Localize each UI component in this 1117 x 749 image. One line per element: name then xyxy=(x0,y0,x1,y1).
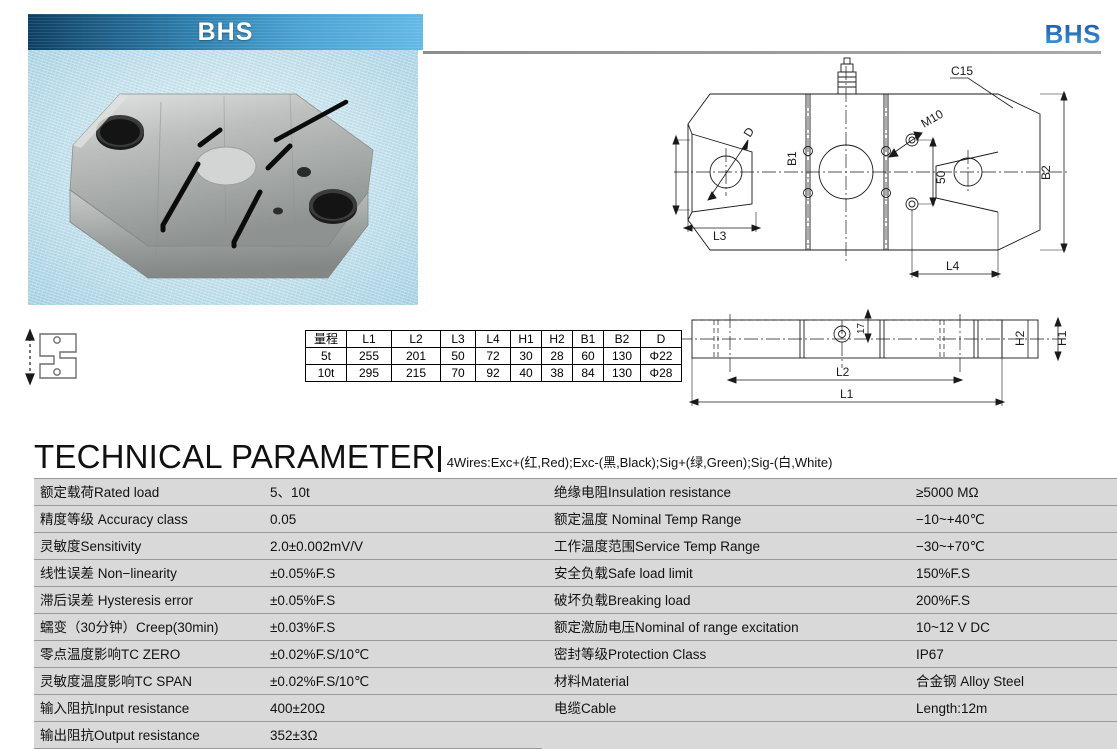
dim-header-b2: B2 xyxy=(604,331,641,348)
svg-text:D: D xyxy=(741,125,758,140)
dim-header-h1: H1 xyxy=(511,331,542,348)
param-value: ±0.05%F.S xyxy=(264,587,542,614)
datasheet-page: BHS BHS xyxy=(0,0,1117,739)
dim-header-b1: B1 xyxy=(573,331,604,348)
side-view-drawing: L2 L1 H1 H2 17 xyxy=(668,298,1108,410)
param-key: 额定激励电压Nominal of range excitation xyxy=(542,614,910,641)
table-row: 输入阻抗Input resistance 400±20Ω 电缆Cable Len… xyxy=(34,695,1117,722)
param-key: 灵敏度温度影响TC SPAN xyxy=(34,668,264,695)
param-key: 密封等级Protection Class xyxy=(542,641,910,668)
title-divider-bar xyxy=(438,446,441,472)
param-value: 150%F.S xyxy=(910,560,1117,587)
dim-cell: 60 xyxy=(573,348,604,365)
param-key: 滞后误差 Hysteresis error xyxy=(34,587,264,614)
brand-logo: BHS xyxy=(1045,19,1101,50)
param-value: ±0.05%F.S xyxy=(264,560,542,587)
param-key: 线性误差 Non−linearity xyxy=(34,560,264,587)
dim-cell: 72 xyxy=(476,348,511,365)
svg-text:17: 17 xyxy=(856,322,867,334)
dim-cell: 28 xyxy=(542,348,573,365)
dim-cell: 130 xyxy=(604,365,641,382)
param-key: 材料Material xyxy=(542,668,910,695)
dim-cell: 255 xyxy=(347,348,392,365)
banner-title: BHS xyxy=(198,18,254,47)
param-key: 精度等级 Accuracy class xyxy=(34,506,264,533)
svg-text:L2: L2 xyxy=(836,365,850,379)
dim-cell: 92 xyxy=(476,365,511,382)
product-banner: BHS xyxy=(28,14,423,50)
dim-cell: 40 xyxy=(511,365,542,382)
dim-cell: 201 xyxy=(392,348,441,365)
table-row: 额定载荷Rated load 5、10t 绝缘电阻Insulation resi… xyxy=(34,479,1117,506)
top-view-drawing: B1 B2 L3 50 L4 D M10 C15 xyxy=(668,52,1108,292)
param-value: ±0.02%F.S/10℃ xyxy=(264,668,542,695)
param-value: −10~+40℃ xyxy=(910,506,1117,533)
dim-cell: 5t xyxy=(306,348,347,365)
svg-text:C15: C15 xyxy=(951,64,973,78)
param-value: ±0.02%F.S/10℃ xyxy=(264,641,542,668)
svg-text:B2: B2 xyxy=(1039,165,1053,180)
dimension-table: 量程 L1 L2 L3 L4 H1 H2 B1 B2 D 5t 255 201 … xyxy=(305,330,682,382)
wiring-note: 4Wires:Exc+(红,Red);Exc-(黑,Black);Sig+(绿,… xyxy=(447,452,833,474)
svg-text:H2: H2 xyxy=(1013,330,1027,346)
param-value: 合金钢 Alloy Steel xyxy=(910,668,1117,695)
svg-text:B1: B1 xyxy=(785,151,799,166)
param-key: 输出阻抗Output resistance xyxy=(34,722,264,749)
dim-cell: 295 xyxy=(347,365,392,382)
dim-header-l4: L4 xyxy=(476,331,511,348)
svg-text:50: 50 xyxy=(934,170,948,184)
dim-cell: 70 xyxy=(441,365,476,382)
param-value: 5、10t xyxy=(264,479,542,506)
technical-parameter-table: 额定载荷Rated load 5、10t 绝缘电阻Insulation resi… xyxy=(34,478,1117,749)
table-row: 线性误差 Non−linearity ±0.05%F.S 安全负载Safe lo… xyxy=(34,560,1117,587)
table-row: 蠕变（30分钟）Creep(30min) ±0.03%F.S 额定激励电压Nom… xyxy=(34,614,1117,641)
param-value: 0.05 xyxy=(264,506,542,533)
page-title: TECHNICAL PARAMETER xyxy=(34,440,436,474)
param-key-empty xyxy=(542,722,910,749)
param-key: 电缆Cable xyxy=(542,695,910,722)
dim-header-l1: L1 xyxy=(347,331,392,348)
dimension-table-header-row: 量程 L1 L2 L3 L4 H1 H2 B1 B2 D xyxy=(306,331,682,348)
param-key: 工作温度范围Service Temp Range xyxy=(542,533,910,560)
dim-cell: 84 xyxy=(573,365,604,382)
table-row: 灵敏度温度影响TC SPAN ±0.02%F.S/10℃ 材料Material … xyxy=(34,668,1117,695)
dim-header-range: 量程 xyxy=(306,331,347,348)
dim-header-l3: L3 xyxy=(441,331,476,348)
param-value: 352±3Ω xyxy=(264,722,542,749)
param-value: 200%F.S xyxy=(910,587,1117,614)
param-value: 400±20Ω xyxy=(264,695,542,722)
table-row: 精度等级 Accuracy class 0.05 额定温度 Nominal Te… xyxy=(34,506,1117,533)
cross-section-icon xyxy=(20,320,90,402)
dim-cell: 10t xyxy=(306,365,347,382)
dim-cell: 38 xyxy=(542,365,573,382)
param-value: 10~12 V DC xyxy=(910,614,1117,641)
param-key: 蠕变（30分钟）Creep(30min) xyxy=(34,614,264,641)
dimension-table-row-10t: 10t 295 215 70 92 40 38 84 130 Φ28 xyxy=(306,365,682,382)
dim-cell: Φ22 xyxy=(641,348,682,365)
param-key: 零点温度影响TC ZERO xyxy=(34,641,264,668)
table-row: 零点温度影响TC ZERO ±0.02%F.S/10℃ 密封等级Protecti… xyxy=(34,641,1117,668)
param-value-empty xyxy=(910,722,1117,749)
param-key: 额定载荷Rated load xyxy=(34,479,264,506)
svg-text:L4: L4 xyxy=(946,259,960,273)
dim-cell: 50 xyxy=(441,348,476,365)
param-value: ±0.03%F.S xyxy=(264,614,542,641)
param-key: 额定温度 Nominal Temp Range xyxy=(542,506,910,533)
svg-text:H1: H1 xyxy=(1055,330,1069,346)
dim-header-d: D xyxy=(641,331,682,348)
svg-text:L3: L3 xyxy=(713,229,727,243)
table-row: 灵敏度Sensitivity 2.0±0.002mV/V 工作温度范围Servi… xyxy=(34,533,1117,560)
dim-cell: 30 xyxy=(511,348,542,365)
dim-header-h2: H2 xyxy=(542,331,573,348)
param-key: 灵敏度Sensitivity xyxy=(34,533,264,560)
dim-cell: 215 xyxy=(392,365,441,382)
param-key: 绝缘电阻Insulation resistance xyxy=(542,479,910,506)
load-cell-illustration xyxy=(28,50,418,305)
param-value: 2.0±0.002mV/V xyxy=(264,533,542,560)
param-value: ≥5000 MΩ xyxy=(910,479,1117,506)
dim-cell: 130 xyxy=(604,348,641,365)
table-row: 输出阻抗Output resistance 352±3Ω xyxy=(34,722,1117,749)
param-key: 安全负载Safe load limit xyxy=(542,560,910,587)
dimension-table-row-5t: 5t 255 201 50 72 30 28 60 130 Φ22 xyxy=(306,348,682,365)
table-row: 滞后误差 Hysteresis error ±0.05%F.S 破坏负载Brea… xyxy=(34,587,1117,614)
technical-parameter-heading: TECHNICAL PARAMETER 4Wires:Exc+(红,Red);E… xyxy=(34,432,1094,474)
param-key: 破坏负载Breaking load xyxy=(542,587,910,614)
dim-header-l2: L2 xyxy=(392,331,441,348)
product-photo xyxy=(28,50,418,305)
dim-cell: Φ28 xyxy=(641,365,682,382)
param-value: Length:12m xyxy=(910,695,1117,722)
svg-text:L1: L1 xyxy=(840,387,854,401)
param-value: IP67 xyxy=(910,641,1117,668)
param-value: −30~+70℃ xyxy=(910,533,1117,560)
param-key: 输入阻抗Input resistance xyxy=(34,695,264,722)
svg-text:M10: M10 xyxy=(919,107,946,131)
